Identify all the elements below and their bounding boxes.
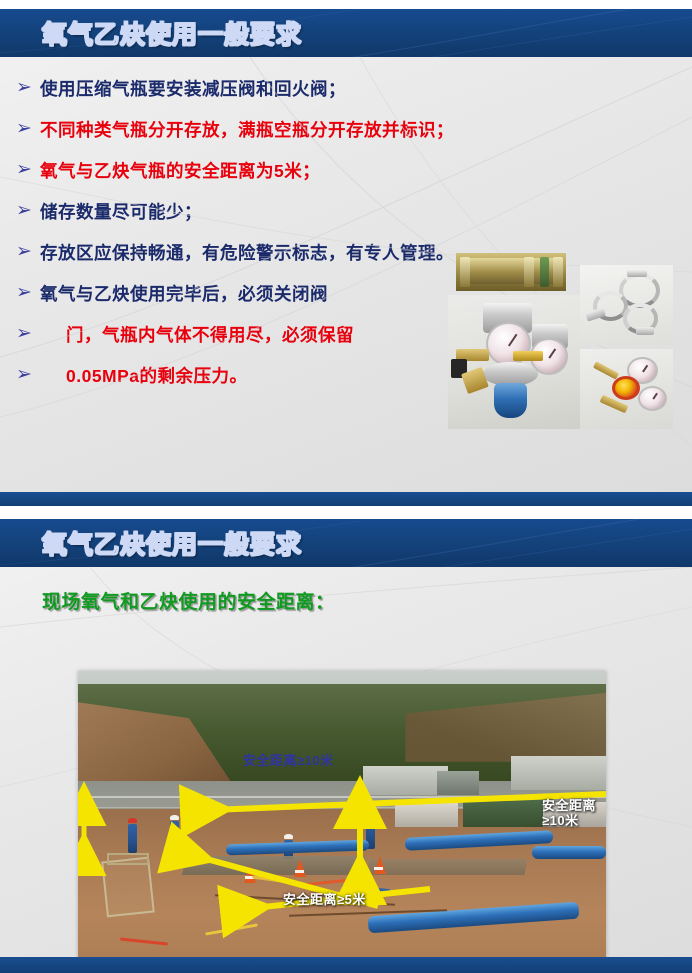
bullet-item: ➢ 储存数量尽可能少； — [0, 194, 692, 232]
chevron-bullet-icon: ➢ — [16, 276, 40, 310]
slide-2-heading: 现场氧气和乙炔使用的安全距离： — [42, 587, 335, 614]
bullet-item: ➢ 氧气与乙炔气瓶的安全距离为5米； — [0, 153, 692, 191]
clamp-screw — [636, 327, 655, 334]
bullet-item: ➢ 不同种类气瓶分开存放，满瓶空瓶分开存放并标识； — [0, 112, 692, 150]
bullet-item: ➢ 使用压缩气瓶要安装减压阀和回火阀； — [0, 71, 692, 109]
slide-2: 氧气乙炔使用一般要求 现场氧气和乙炔使用的安全距离： — [0, 519, 692, 973]
chevron-bullet-icon: ➢ — [16, 194, 40, 228]
slide-2-header-bar: 氧气乙炔使用一般要求 — [0, 519, 692, 567]
distance-label-10m-blue: 安全距离≥10米 — [243, 750, 334, 769]
slide-2-title: 氧气乙炔使用一般要求 — [42, 525, 302, 561]
slide-2-body: 现场氧气和乙炔使用的安全距离： — [0, 567, 692, 973]
distance-label-5m: 安全距离≥5米 — [283, 893, 366, 908]
bullet-text: 使用压缩气瓶要安装减压阀和回火阀； — [40, 71, 346, 107]
hose-clamps-photo — [580, 265, 673, 345]
bullet-text: 门，气瓶内气体不得用尽，必须保留 — [40, 317, 354, 353]
slide-1-body: ➢ 使用压缩气瓶要安装减压阀和回火阀； ➢ 不同种类气瓶分开存放，满瓶空瓶分开存… — [0, 57, 692, 492]
chevron-bullet-icon: ➢ — [16, 358, 40, 392]
chevron-bullet-icon: ➢ — [16, 235, 40, 269]
distance-label-10m-line1: 安全距离 — [542, 798, 596, 813]
slide-2-footer-bar — [0, 957, 692, 973]
pressure-gauge — [638, 386, 668, 412]
chevron-bullet-icon: ➢ — [16, 112, 40, 146]
chevron-bullet-icon: ➢ — [16, 153, 40, 187]
slide-1: 氧气乙炔使用一般要求 ➢ 使用压缩气瓶要安装减压阀和回火阀； ➢ 不同种类气瓶分… — [0, 9, 692, 506]
flashback-arrestor-photo — [456, 253, 566, 291]
bullet-text: 氧气与乙炔使用完毕后，必须关闭阀 — [40, 276, 328, 312]
bullet-text: 氧气与乙炔气瓶的安全距离为5米； — [40, 153, 320, 189]
bullet-text: 储存数量尽可能少； — [40, 194, 202, 230]
red-adjust-knob — [612, 376, 640, 400]
arrestor-ring — [524, 257, 534, 287]
brass-inlet — [593, 361, 619, 380]
chevron-bullet-icon: ➢ — [16, 71, 40, 105]
oxygen-regulator-photo — [448, 295, 584, 429]
blue-adjust-knob — [494, 383, 527, 418]
slide-1-footer-bar — [0, 492, 692, 506]
brass-fitting — [513, 351, 543, 360]
bullet-text: 0.05MPa的剩余压力。 — [40, 358, 248, 394]
construction-site-photo: 安全距离 ≥10米 安全距离≥5米 安全距离≥10米 2006/04/08 04… — [78, 671, 606, 973]
slide-deck: 氧气乙炔使用一般要求 ➢ 使用压缩气瓶要安装减压阀和回火阀； ➢ 不同种类气瓶分… — [0, 0, 692, 973]
acetylene-regulator-photo — [580, 349, 673, 429]
distance-arrow-overlay — [78, 671, 606, 973]
bullet-text: 不同种类气瓶分开存放，满瓶空瓶分开存放并标识； — [40, 112, 454, 148]
clamp-screw — [627, 270, 647, 277]
equipment-photo-cluster — [448, 253, 673, 429]
bullet-text: 存放区应保持畅通，有危险警示标志，有专人管理。 — [40, 235, 454, 271]
arrestor-ring — [540, 257, 550, 287]
slide-1-title: 氧气乙炔使用一般要求 — [42, 15, 302, 51]
arrestor-ring — [553, 257, 563, 287]
distance-label-10m-line2: ≥10米 — [542, 813, 579, 828]
chevron-bullet-icon: ➢ — [16, 317, 40, 351]
distance-label-10m: 安全距离 ≥10米 — [542, 799, 596, 829]
arrestor-ring — [460, 257, 470, 287]
slide-1-header-bar: 氧气乙炔使用一般要求 — [0, 9, 692, 57]
